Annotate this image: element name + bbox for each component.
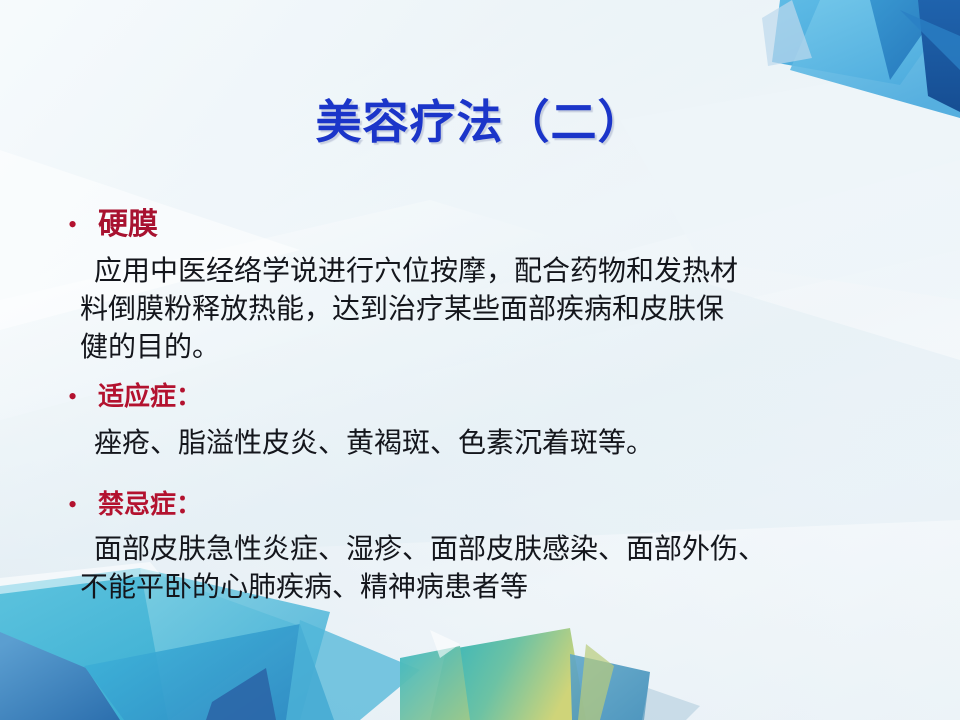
bullet-item-contraindications: • 禁忌症： [62,485,902,525]
bullet-marker-icon: • [62,377,98,417]
paragraph-line: 面部皮肤急性炎症、湿疹、面部皮肤感染、面部外伤、 [80,531,902,569]
slide-title: 美容疗法（二） [0,86,960,152]
paragraph-contraindications: 面部皮肤急性炎症、湿疹、面部皮肤感染、面部外伤、 不能平卧的心肺疾病、精神病患者… [80,531,902,607]
paragraph-hardmask: 应用中医经络学说进行穴位按摩，配合药物和发热材 料倒膜粉释放热能，达到治疗某些面… [80,253,902,367]
paragraph-indications: 痤疮、脂溢性皮炎、黄褐斑、色素沉着斑等。 [80,425,902,463]
bullet-heading: 硬膜 [98,205,158,245]
decor-bottom-center-polygons [400,610,740,720]
bullet-heading: 禁忌症： [98,485,202,525]
bullet-item-hardmask: • 硬膜 [62,205,902,245]
paragraph-line: 不能平卧的心肺疾病、精神病患者等 [80,569,902,607]
bullet-marker-icon: • [62,205,98,245]
bullet-heading: 适应症： [98,377,202,417]
paragraph-line: 料倒膜粉释放热能，达到治疗某些面部疾病和皮肤保 [80,291,902,329]
paragraph-line: 应用中医经络学说进行穴位按摩，配合药物和发热材 [80,253,902,291]
paragraph-line: 痤疮、脂溢性皮炎、黄褐斑、色素沉着斑等。 [80,425,902,463]
slide-body: • 硬膜 应用中医经络学说进行穴位按摩，配合药物和发热材 料倒膜粉释放热能，达到… [62,205,902,611]
bullet-marker-icon: • [62,485,98,525]
slide-canvas: 美容疗法（二） • 硬膜 应用中医经络学说进行穴位按摩，配合药物和发热材 料倒膜… [0,0,960,720]
bullet-item-indications: • 适应症： [62,377,902,417]
paragraph-line: 健的目的。 [80,329,902,367]
